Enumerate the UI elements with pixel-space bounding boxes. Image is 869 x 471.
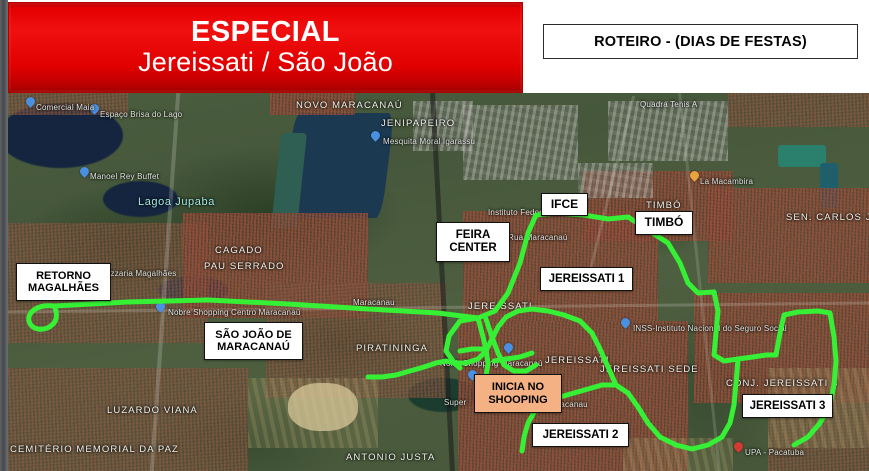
callout-line-2: MARACANAÚ (217, 341, 290, 353)
route-conj-jer3 (738, 311, 836, 445)
callout-inicia-no-shooping[interactable]: INICIA NO SHOOPING (474, 374, 562, 413)
slide-root: ESPECIAL Jereissati / São João ROTEIRO -… (0, 0, 869, 471)
callout-retorno-magalhaes[interactable]: RETORNO MAGALHÃES (16, 263, 111, 301)
callout-line-2: MAGALHÃES (28, 282, 99, 294)
callout-line-1: JEREISSATI 2 (543, 429, 619, 442)
callout-line-1: RETORNO (36, 270, 91, 282)
bus-route-overlay (8, 93, 869, 471)
callout-line-1: SÃO JOÃO DE (215, 329, 291, 341)
route-trunk-west (54, 300, 478, 318)
callout-line-1: JEREISSATI 3 (750, 400, 826, 413)
callout-sao-joao-de-maracanau[interactable]: SÃO JOÃO DE MARACANAÚ (204, 322, 303, 360)
banner-title: ESPECIAL (191, 18, 340, 48)
header: ESPECIAL Jereissati / São João ROTEIRO -… (0, 0, 869, 93)
callout-line-1: INICIA NO (492, 381, 544, 393)
callout-line-1: IFCE (551, 198, 578, 211)
callout-jereissati-3[interactable]: JEREISSATI 3 (742, 394, 833, 418)
route-shopping-area (368, 361, 460, 377)
callout-ifce[interactable]: IFCE (541, 193, 588, 216)
route-jer3-loop-back (676, 359, 738, 449)
callout-line-1: FEIRA (456, 229, 491, 242)
callout-feira-center[interactable]: FEIRA CENTER (436, 222, 510, 262)
map-canvas[interactable]: Comercial MaiaEspaço Brisa do LagoNOVO M… (8, 93, 869, 471)
callout-line-2: CENTER (449, 242, 496, 255)
slide-left-edge (0, 0, 8, 471)
roteiro-label-box: ROTEIRO - (DIAS DE FESTAS) (543, 24, 858, 59)
route-east-down (714, 292, 738, 361)
banner-subtitle: Jereissati / São João (138, 49, 393, 77)
roteiro-label-text: ROTEIRO - (DIAS DE FESTAS) (594, 34, 807, 50)
callout-jereissati-2[interactable]: JEREISSATI 2 (532, 423, 629, 447)
callout-line-2: SHOOPING (488, 394, 547, 406)
callout-line-1: JEREISSATI 1 (549, 273, 625, 286)
callout-line-1: TIMBÓ (645, 216, 684, 229)
especial-banner: ESPECIAL Jereissati / São João (8, 2, 523, 93)
callout-jereissati-1[interactable]: JEREISSATI 1 (540, 267, 633, 291)
route-retorno-loop (29, 306, 57, 330)
route-shopping-inner-c (460, 349, 486, 351)
callout-timbo[interactable]: TIMBÓ (635, 211, 693, 235)
